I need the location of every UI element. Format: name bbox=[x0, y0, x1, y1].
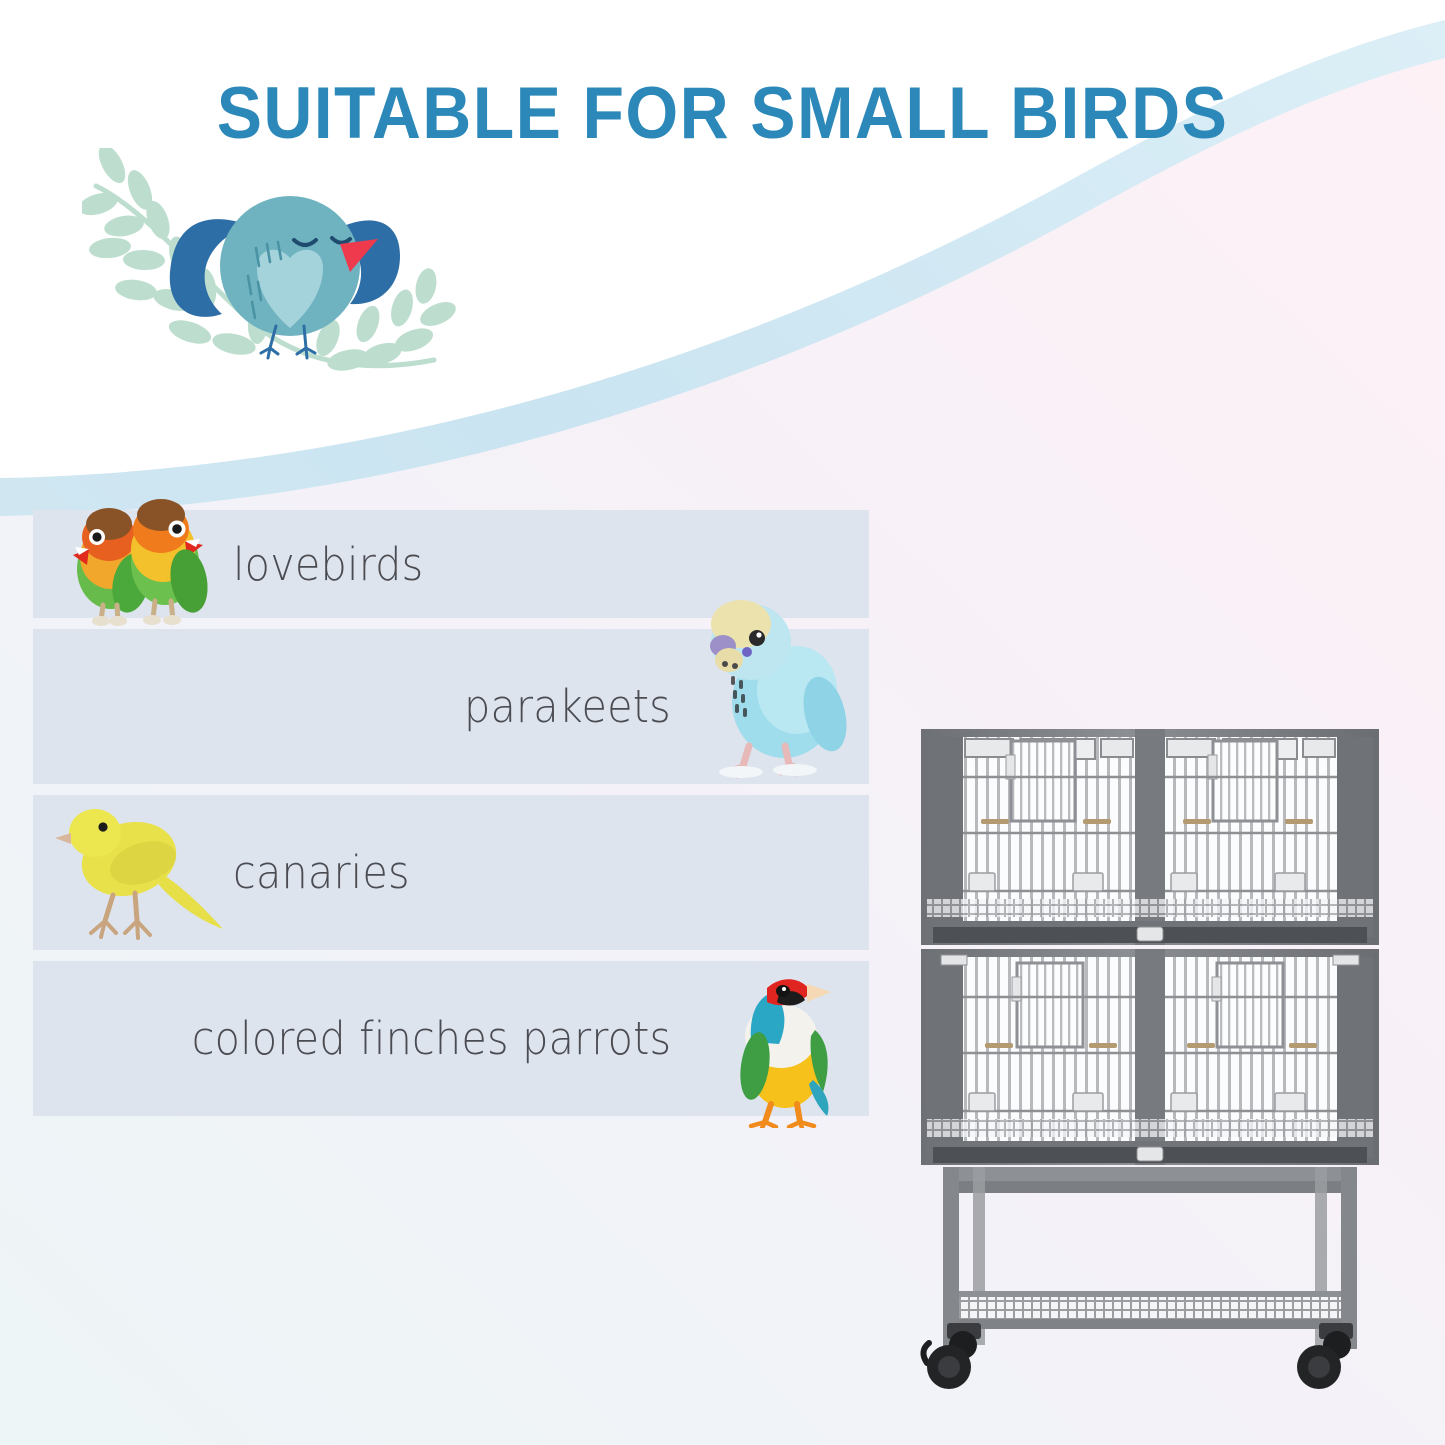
product-image-bird-cage bbox=[905, 715, 1395, 1405]
caster-wheel-icon bbox=[1297, 1345, 1341, 1389]
upper-cage-unit bbox=[921, 729, 1379, 945]
list-item[interactable]: parakeets bbox=[33, 629, 869, 784]
canary-icon bbox=[55, 809, 223, 938]
list-item[interactable]: lovebirds bbox=[33, 510, 869, 618]
cage-door-upper-right bbox=[1213, 741, 1277, 821]
cage-door-lower-left bbox=[1017, 963, 1083, 1047]
decorative-bird-illustration bbox=[82, 148, 472, 383]
lovebirds-photo bbox=[53, 497, 233, 627]
page-title: SUITABLE FOR SMALL BIRDS bbox=[51, 72, 1395, 155]
list-item[interactable]: canaries bbox=[33, 795, 869, 950]
budgie-icon bbox=[710, 600, 854, 778]
gouldian-finch-icon bbox=[736, 979, 831, 1128]
list-item-label: canaries bbox=[233, 846, 410, 899]
rolling-stand bbox=[923, 1167, 1357, 1389]
infographic-canvas: SUITABLE FOR SMALL BIRDS bbox=[0, 0, 1445, 1445]
latch-icon bbox=[1006, 755, 1015, 779]
gouldian-finch-photo bbox=[727, 958, 847, 1128]
list-item[interactable]: colored finches parrots bbox=[33, 961, 869, 1116]
tray-handle-icon bbox=[1137, 927, 1163, 941]
lower-cage-unit bbox=[921, 949, 1379, 1165]
list-item-label: parakeets bbox=[464, 680, 671, 733]
bird-cage-svg bbox=[905, 715, 1395, 1405]
cage-door-upper-left bbox=[1011, 741, 1075, 821]
bottom-wire-shelf bbox=[957, 1297, 1343, 1319]
bird-branch-svg bbox=[82, 148, 472, 383]
cage-door-lower-right bbox=[1217, 963, 1283, 1047]
canary-photo bbox=[51, 797, 236, 947]
lovebird-right-icon bbox=[131, 499, 212, 625]
list-item-label: colored finches parrots bbox=[191, 1012, 671, 1065]
latch-icon bbox=[1208, 755, 1217, 779]
parakeet-photo bbox=[689, 594, 859, 779]
bird-type-list: lovebirds parakeets bbox=[33, 510, 869, 1116]
tray-handle-icon bbox=[1137, 1147, 1163, 1161]
list-item-label: lovebirds bbox=[233, 538, 423, 591]
lovebird-left-icon bbox=[73, 508, 155, 626]
